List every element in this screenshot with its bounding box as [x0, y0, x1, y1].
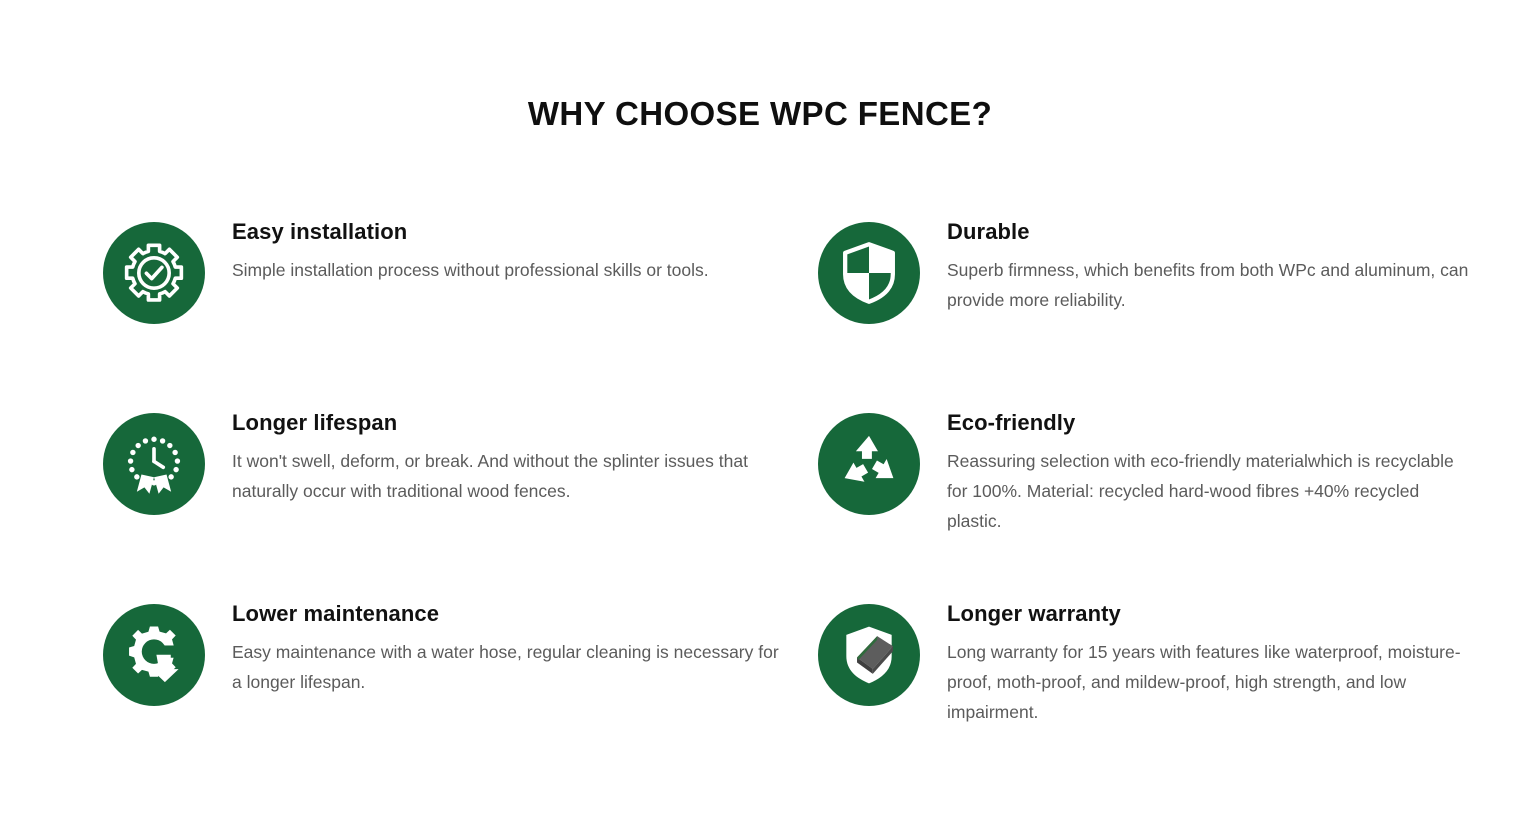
feature-text: Longer warranty Long warranty for 15 yea…	[947, 578, 1477, 727]
gear-arrow-down-icon	[103, 604, 205, 706]
feature-description: Superb firmness, which benefits from bot…	[947, 255, 1477, 315]
feature-title: Eco-friendly	[947, 409, 1477, 437]
feature-item-eco-friendly: Eco-friendly Reassuring selection with e…	[818, 387, 1520, 578]
feature-text: Durable Superb firmness, which benefits …	[947, 196, 1477, 315]
feature-description: Reassuring selection with eco-friendly m…	[947, 446, 1477, 536]
shield-quadrant-icon	[818, 222, 920, 324]
page-title: WHY CHOOSE WPC FENCE?	[0, 94, 1520, 134]
feature-text: Lower maintenance Easy maintenance with …	[232, 578, 792, 697]
recycle-icon	[818, 413, 920, 515]
feature-title: Longer warranty	[947, 600, 1477, 628]
feature-item-longer-lifespan: Longer lifespan It won't swell, deform, …	[103, 387, 818, 578]
feature-description: Easy maintenance with a water hose, regu…	[232, 637, 792, 697]
feature-text: Eco-friendly Reassuring selection with e…	[947, 387, 1477, 536]
feature-title: Lower maintenance	[232, 600, 792, 628]
feature-title: Durable	[947, 218, 1477, 246]
feature-description: Long warranty for 15 years with features…	[947, 637, 1477, 727]
feature-text: Easy installation Simple installation pr…	[232, 196, 709, 285]
gear-check-icon	[103, 222, 205, 324]
feature-item-lower-maintenance: Lower maintenance Easy maintenance with …	[103, 578, 818, 769]
features-grid: Easy installation Simple installation pr…	[0, 196, 1520, 769]
feature-highlights-page: WHY CHOOSE WPC FENCE? Easy installation …	[0, 0, 1520, 828]
clock-award-icon	[103, 413, 205, 515]
feature-description: Simple installation process without prof…	[232, 255, 709, 285]
feature-text: Longer lifespan It won't swell, deform, …	[232, 387, 792, 506]
shield-board-icon	[818, 604, 920, 706]
feature-title: Longer lifespan	[232, 409, 792, 437]
feature-item-durable: Durable Superb firmness, which benefits …	[818, 196, 1520, 387]
feature-item-easy-installation: Easy installation Simple installation pr…	[103, 196, 818, 387]
feature-title: Easy installation	[232, 218, 709, 246]
feature-description: It won't swell, deform, or break. And wi…	[232, 446, 792, 506]
feature-item-longer-warranty: Longer warranty Long warranty for 15 yea…	[818, 578, 1520, 769]
